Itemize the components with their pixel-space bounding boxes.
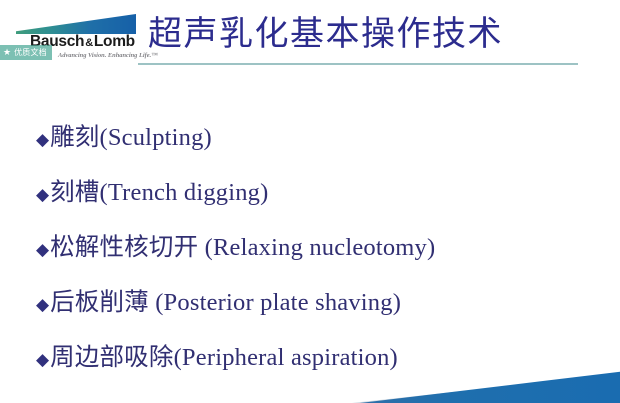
logo-wordmark-right: Lomb — [94, 33, 135, 50]
list-item-label: 后板削薄 (Posterior plate shaving) — [50, 283, 401, 318]
list-item-label: 周边部吸除(Peripheral aspiration) — [50, 338, 398, 373]
title-divider — [138, 63, 578, 65]
list-item: ◆ 后板削薄 (Posterior plate shaving) — [36, 283, 606, 338]
diamond-bullet-icon: ◆ — [36, 296, 49, 313]
logo-tagline: Advancing Vision. Enhancing Life.™ — [58, 52, 158, 59]
presentation-slide: Bausch&Lomb Advancing Vision. Enhancing … — [0, 0, 620, 403]
bullet-list: ◆ 雕刻(Sculpting) ◆ 刻槽(Trench digging) ◆ 松… — [36, 118, 606, 393]
list-item-label: 雕刻(Sculpting) — [50, 118, 212, 153]
list-item: ◆ 雕刻(Sculpting) — [36, 118, 606, 173]
watermark-label: 优质文档 — [14, 47, 47, 58]
logo-ampersand-icon: & — [84, 37, 94, 49]
diamond-bullet-icon: ◆ — [36, 131, 49, 148]
page-title: 超声乳化基本操作技术 — [148, 6, 503, 55]
list-item-label: 刻槽(Trench digging) — [50, 173, 268, 208]
list-item: ◆ 刻槽(Trench digging) — [36, 173, 606, 228]
list-item: ◆ 松解性核切开 (Relaxing nucleotomy) — [36, 228, 606, 283]
diamond-bullet-icon: ◆ — [36, 241, 49, 258]
list-item-label: 松解性核切开 (Relaxing nucleotomy) — [50, 228, 435, 263]
slide-header: Bausch&Lomb Advancing Vision. Enhancing … — [0, 0, 620, 72]
watermark-badge: ★ 优质文档 — [0, 45, 52, 60]
star-icon: ★ — [3, 48, 11, 57]
diamond-bullet-icon: ◆ — [36, 351, 49, 368]
logo-swoosh-icon — [16, 14, 136, 34]
diamond-bullet-icon: ◆ — [36, 186, 49, 203]
